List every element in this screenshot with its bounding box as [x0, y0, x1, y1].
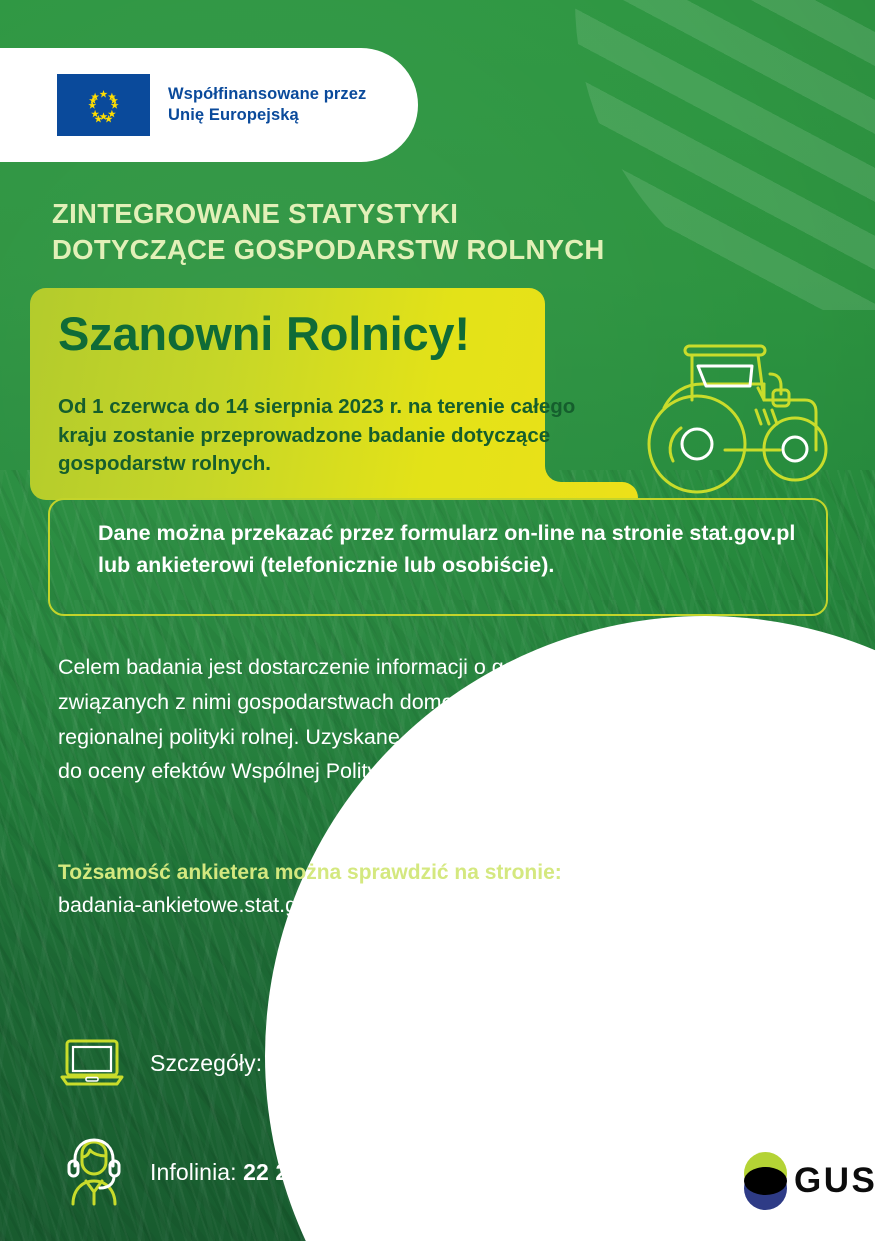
gus-logo: GUS	[744, 1152, 875, 1210]
callout-body-text: Od 1 czerwca do 14 sierpnia 2023 r. na t…	[58, 393, 616, 479]
laptop-icon	[60, 1038, 124, 1088]
survey-purpose-paragraph: Celem badania jest dostarczenie informac…	[58, 650, 848, 789]
callout-title: Szanowni Rolnicy!	[58, 306, 470, 361]
gus-logo-mark-icon	[744, 1152, 787, 1210]
eu-flag-icon	[57, 74, 150, 136]
survey-title-line-1: ZINTEGROWANE STATYSTYKI	[52, 196, 772, 232]
eu-funding-line-2: Unię Europejską	[168, 105, 366, 126]
eu-funding-label: Współfinansowane przez Unię Europejską	[168, 84, 366, 126]
interviewer-identity-block: Tożsamość ankietera można sprawdzić na s…	[58, 858, 848, 920]
online-submission-box: Dane można przekazać przez formularz on-…	[48, 498, 828, 616]
hotline-label: Infolinia:	[150, 1159, 243, 1185]
eu-funding-line-1: Współfinansowane przez	[168, 84, 366, 105]
hotline-number: 22 279 99 99	[243, 1159, 379, 1185]
hotline-row: Infolinia: 22 279 99 99	[62, 1136, 379, 1208]
poster-canvas: Współfinansowane przez Unię Europejską Z…	[0, 0, 875, 1241]
interviewer-identity-url[interactable]: badania-ankietowe.stat.gov.pl/sprawdz-to…	[58, 890, 848, 921]
online-submission-text: Dane można przekazać przez formularz on-…	[98, 518, 812, 581]
details-url-bold: badania-ankietowe	[269, 1050, 476, 1076]
gus-wordmark: GUS	[794, 1161, 875, 1201]
interviewer-identity-lead: Tożsamość ankietera można sprawdzić na s…	[58, 858, 848, 888]
headset-operator-icon	[62, 1136, 126, 1208]
tractor-illustration	[640, 332, 860, 507]
hotline-text: Infolinia: 22 279 99 99	[150, 1159, 379, 1186]
details-url-rest: .stat.gov.pl	[476, 1050, 587, 1076]
survey-title: ZINTEGROWANE STATYSTYKI DOTYCZĄCE GOSPOD…	[52, 196, 772, 269]
survey-title-line-2: DOTYCZĄCE GOSPODARSTW ROLNYCH	[52, 232, 772, 268]
eu-funding-badge: Współfinansowane przez Unię Europejską	[0, 48, 418, 162]
highlight-callout: Szanowni Rolnicy! Od 1 czerwca do 14 sie…	[30, 288, 638, 500]
details-website-text: Szczegóły: badania-ankietowe.stat.gov.pl	[150, 1050, 587, 1077]
details-label: Szczegóły:	[150, 1050, 269, 1076]
details-website-row: Szczegóły: badania-ankietowe.stat.gov.pl	[60, 1038, 587, 1088]
gus-circle-overlap	[744, 1167, 787, 1195]
